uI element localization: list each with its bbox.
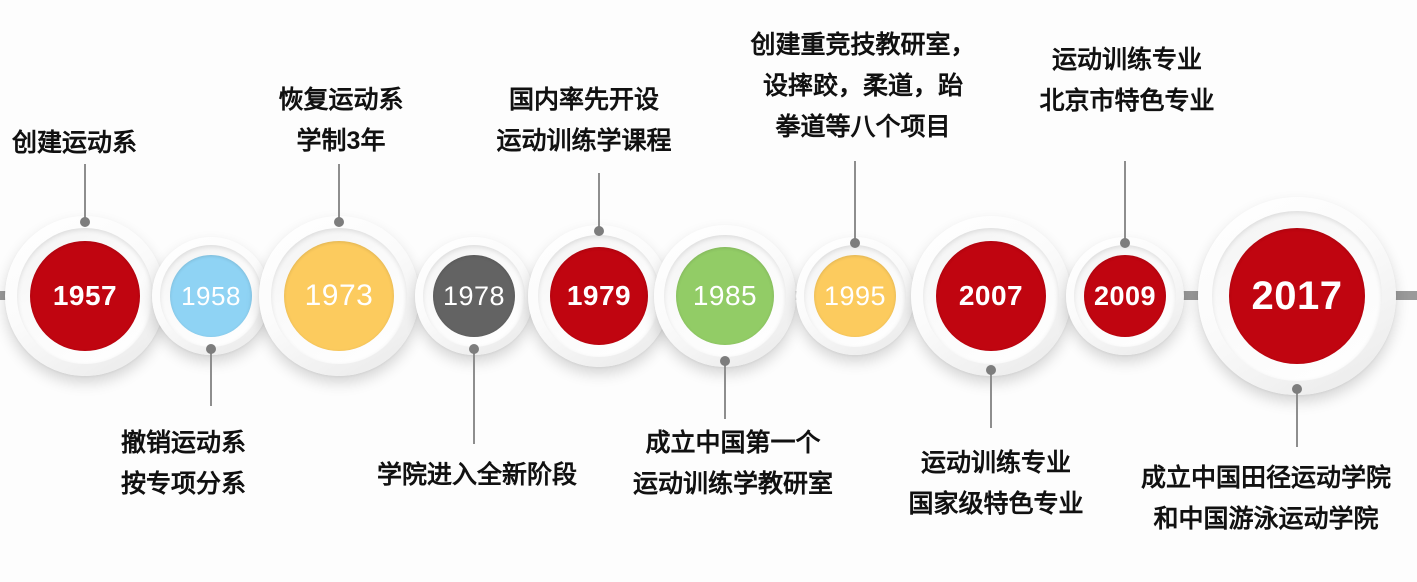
caption-line: 成立中国第一个 (617, 423, 849, 464)
timeline-caption-1995: 创建重竞技教研室，设摔跤，柔道，跆拳道等八个项目 (732, 25, 994, 148)
leader-line-1995 (854, 161, 856, 243)
node-year-label-2017: 2017 (1229, 228, 1365, 364)
timeline-caption-1973: 恢复运动系学制3年 (251, 80, 431, 162)
node-year-label-2007: 2007 (936, 241, 1046, 351)
timeline-node-1973[interactable]: 1973 (259, 216, 419, 376)
leader-line-1979 (598, 173, 600, 231)
node-year-label-1958: 1958 (170, 255, 252, 337)
timeline-caption-2007: 运动训练专业国家级特色专业 (897, 443, 1095, 525)
caption-line: 和中国游泳运动学院 (1122, 499, 1410, 540)
caption-line: 北京市特色专业 (1020, 81, 1234, 122)
leader-dot-2017 (1292, 384, 1302, 394)
leader-dot-1958 (206, 344, 216, 354)
leader-line-1958 (210, 349, 212, 406)
timeline-caption-1957: 创建运动系 (12, 123, 137, 164)
caption-line: 运动训练学教研室 (617, 464, 849, 505)
caption-line: 设摔跤，柔道，跆 (732, 66, 994, 107)
caption-line: 按专项分系 (121, 464, 246, 505)
leader-dot-2009 (1120, 238, 1130, 248)
leader-dot-1978 (469, 344, 479, 354)
timeline-caption-1978: 学院进入全新阶段 (358, 455, 596, 496)
leader-dot-2007 (986, 365, 996, 375)
timeline-node-1958[interactable]: 1958 (152, 237, 270, 355)
leader-line-2009 (1124, 161, 1126, 243)
caption-line: 运动训练学课程 (470, 121, 698, 162)
leader-line-2017 (1296, 389, 1298, 447)
caption-line: 运动训练专业 (1020, 40, 1234, 81)
leader-line-1985 (724, 361, 726, 419)
node-year-label-2009: 2009 (1084, 255, 1166, 337)
timeline-caption-1979: 国内率先开设运动训练学课程 (470, 80, 698, 162)
caption-line: 国家级特色专业 (897, 484, 1095, 525)
leader-line-2007 (990, 370, 992, 428)
caption-line: 拳道等八个项目 (732, 107, 994, 148)
leader-dot-1995 (850, 238, 860, 248)
timeline-node-2009[interactable]: 2009 (1066, 237, 1184, 355)
timeline-node-2017[interactable]: 2017 (1198, 197, 1396, 395)
node-year-label-1995: 1995 (814, 255, 896, 337)
caption-line: 撤销运动系 (121, 423, 246, 464)
node-year-label-1985: 1985 (676, 247, 774, 345)
caption-line: 成立中国田径运动学院 (1122, 458, 1410, 499)
timeline-caption-1985: 成立中国第一个运动训练学教研室 (617, 423, 849, 505)
leader-line-1957 (84, 164, 86, 222)
timeline-infographic: 1957195819731978197919851995200720092017… (0, 0, 1417, 582)
leader-dot-1985 (720, 356, 730, 366)
node-year-label-1979: 1979 (550, 247, 648, 345)
node-year-label-1957: 1957 (30, 241, 140, 351)
timeline-caption-2017: 成立中国田径运动学院和中国游泳运动学院 (1122, 458, 1410, 540)
caption-line: 学制3年 (251, 121, 431, 162)
caption-line: 创建重竞技教研室， (732, 25, 994, 66)
leader-line-1978 (473, 349, 475, 444)
caption-line: 学院进入全新阶段 (358, 455, 596, 496)
leader-dot-1979 (594, 226, 604, 236)
caption-line: 创建运动系 (12, 123, 137, 164)
caption-line: 国内率先开设 (470, 80, 698, 121)
timeline-node-1985[interactable]: 1985 (654, 225, 796, 367)
leader-dot-1973 (334, 217, 344, 227)
node-year-label-1973: 1973 (284, 241, 394, 351)
timeline-node-2007[interactable]: 2007 (911, 216, 1071, 376)
leader-line-1973 (338, 164, 340, 222)
timeline-caption-2009: 运动训练专业北京市特色专业 (1020, 40, 1234, 122)
caption-line: 恢复运动系 (251, 80, 431, 121)
leader-dot-1957 (80, 217, 90, 227)
timeline-caption-1958: 撤销运动系按专项分系 (121, 423, 246, 505)
timeline-node-1978[interactable]: 1978 (415, 237, 533, 355)
timeline-node-1995[interactable]: 1995 (796, 237, 914, 355)
node-year-label-1978: 1978 (433, 255, 515, 337)
caption-line: 运动训练专业 (897, 443, 1095, 484)
timeline-node-1957[interactable]: 1957 (5, 216, 165, 376)
timeline-node-1979[interactable]: 1979 (528, 225, 670, 367)
